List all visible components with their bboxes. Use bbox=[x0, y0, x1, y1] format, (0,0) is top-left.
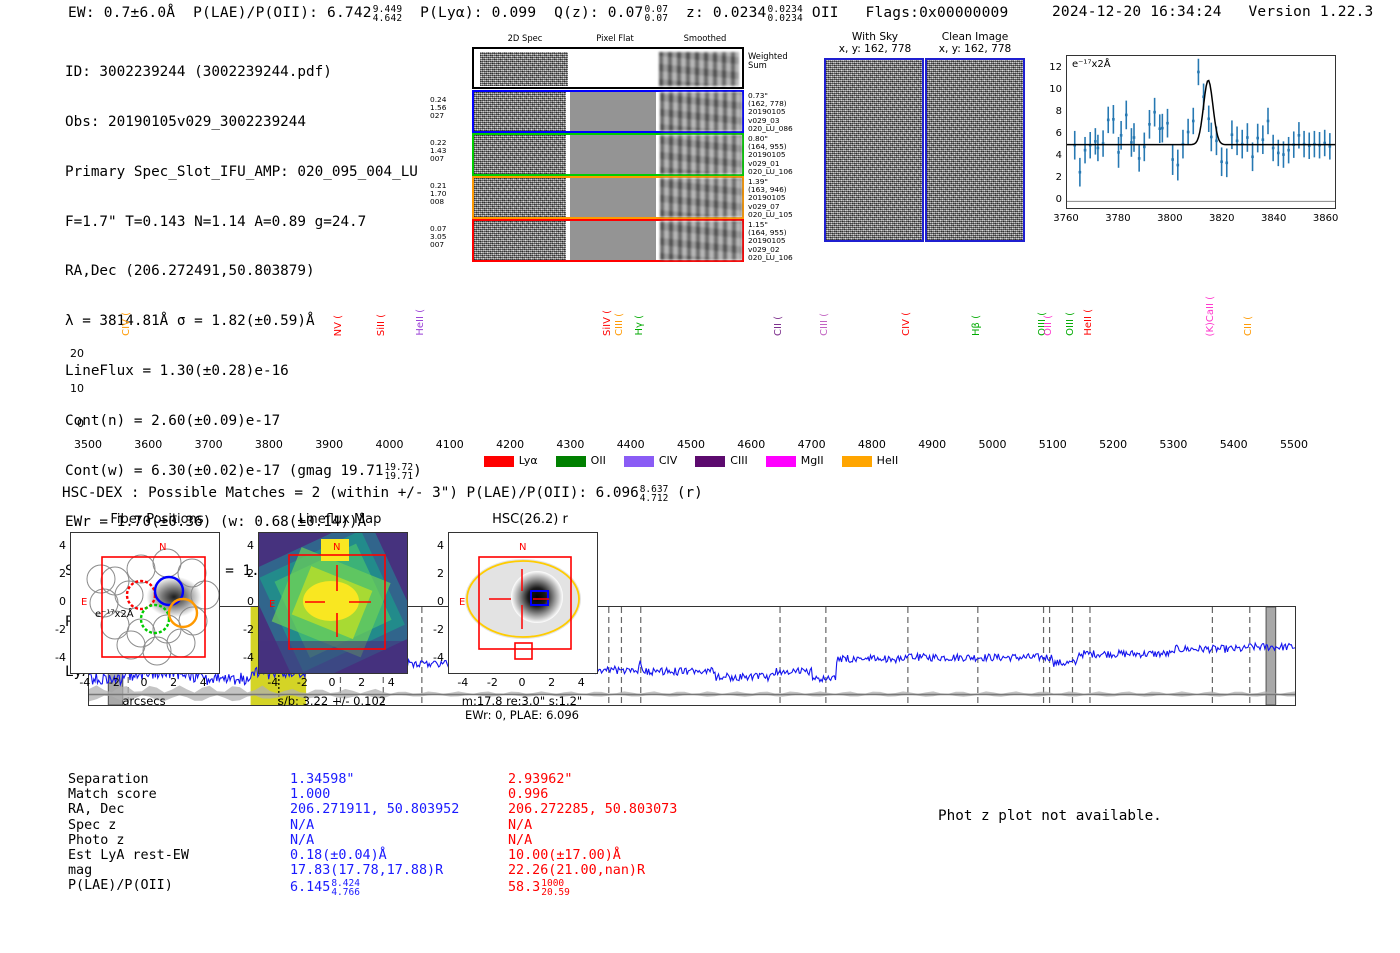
emission-line-label-civ: CIV ( bbox=[901, 312, 912, 336]
tick-label: 4200 bbox=[486, 438, 534, 451]
version: Version 1.22.3 bbox=[1248, 4, 1373, 20]
tick-label: 0 bbox=[232, 595, 254, 608]
tick-label: 4300 bbox=[546, 438, 594, 451]
plae-range: 9.4494.642 bbox=[373, 5, 403, 23]
emission-line-label-cii: CII ( bbox=[1243, 316, 1254, 336]
fiber-row bbox=[472, 90, 744, 133]
fiber-row bbox=[472, 133, 744, 176]
column-title-2dspec: 2D Spec bbox=[492, 33, 558, 43]
emission-line-markers: CIV (NV (SiII (HeII (SiIV (CIII (Hγ (CII… bbox=[88, 270, 1294, 336]
table-cell-match1: 206.271911, 50.803952 bbox=[290, 802, 459, 817]
legend-swatch bbox=[842, 456, 872, 467]
line-profile-svg bbox=[1067, 56, 1335, 208]
tick-label: -2 bbox=[98, 676, 130, 689]
summary-header: EW: 0.7±6.0Å P(LAE)/P(OII): 6.7429.4494.… bbox=[68, 4, 1008, 22]
tick-label: 0 bbox=[44, 595, 66, 608]
fiber-row-left-label: 0.21 1.70 008 bbox=[430, 182, 446, 207]
table-row-label: Est LyA rest-EW bbox=[68, 848, 189, 863]
fiber-row bbox=[472, 219, 744, 262]
table-cell-match2: 58.3100020.59 bbox=[508, 878, 570, 896]
hsc-r-sublabel2: EWr: 0, PLAE: 6.096 bbox=[436, 708, 608, 722]
hsc-r-sublabel: m:17.8 re:3.0" s:1.2" bbox=[436, 694, 608, 708]
line-profile-plot: e⁻¹⁷x2Å bbox=[1038, 55, 1336, 233]
table-cell-match2: 2.93962" bbox=[508, 772, 573, 787]
fiber-rows: 0.24 1.56 027 0.73" (162, 778) 20190105 … bbox=[428, 90, 812, 262]
tick-label: 3500 bbox=[64, 438, 112, 451]
ew-label: EW: bbox=[68, 5, 95, 21]
tick-label: 3800 bbox=[1152, 213, 1188, 224]
tick-label: -4 bbox=[69, 676, 101, 689]
hsc-r-svg: N E bbox=[449, 533, 597, 673]
tick-label: 3600 bbox=[124, 438, 172, 451]
svg-text:E: E bbox=[81, 597, 87, 608]
table-row-label: Match score bbox=[68, 787, 157, 802]
line-profile-axes: e⁻¹⁷x2Å bbox=[1066, 55, 1336, 209]
tick-label: 0 bbox=[422, 595, 444, 608]
plya-label: P(Lyα): bbox=[420, 5, 483, 21]
emission-line-label-ciii: CIII ( bbox=[614, 313, 625, 336]
cutout-subtitle: x, y: 162, 778 bbox=[939, 43, 1012, 55]
tick-label: -2 bbox=[476, 676, 508, 689]
table-cell-match1: 6.1458.4244.766 bbox=[290, 878, 360, 896]
weighted-sum-label: Weighted Sum bbox=[748, 52, 788, 70]
weighted-sum-strip bbox=[472, 47, 744, 89]
tick-label: 4 bbox=[44, 539, 66, 552]
table-cell-match1: 1.34598" bbox=[290, 772, 355, 787]
tick-label: 4600 bbox=[727, 438, 775, 451]
tick-label: 4 bbox=[422, 539, 444, 552]
info-obs: Obs: 20190105v029_3002239244 bbox=[65, 114, 422, 131]
cutout-title-clean-image: Clean Image x, y: 162, 778 bbox=[920, 31, 1030, 55]
tick-label: 3700 bbox=[185, 438, 233, 451]
table-cell-match1: 1.000 bbox=[290, 787, 330, 802]
tick-label: 2 bbox=[1042, 172, 1062, 183]
emission-line-label-kcaii: (K)CaII ( bbox=[1205, 296, 1216, 336]
legend-swatch bbox=[624, 456, 654, 467]
tick-label: 0 bbox=[1042, 194, 1062, 205]
tick-label: 4 bbox=[1042, 150, 1062, 161]
tick-label: 3760 bbox=[1048, 213, 1084, 224]
tick-label: 3860 bbox=[1308, 213, 1344, 224]
table-cell-match2: N/A bbox=[508, 818, 532, 833]
tick-label: -4 bbox=[232, 651, 254, 664]
tick-label: 4700 bbox=[788, 438, 836, 451]
tick-label: -2 bbox=[232, 623, 254, 636]
svg-text:E: E bbox=[269, 599, 275, 610]
fiber-row bbox=[472, 176, 744, 219]
tick-label: 4 bbox=[375, 676, 407, 689]
emission-line-label-hβ: Hβ ( bbox=[971, 315, 982, 336]
table-cell-match1: 17.83(17.78,17.88)R bbox=[290, 863, 443, 878]
z-species: OII bbox=[812, 5, 839, 21]
tick-label: -4 bbox=[44, 651, 66, 664]
fiber-row-left-label: 0.24 1.56 027 bbox=[430, 96, 446, 121]
legend-label: MgII bbox=[801, 454, 824, 467]
svg-text:N: N bbox=[159, 542, 166, 553]
z-value: 0.0234 bbox=[713, 5, 767, 21]
tick-label: 2 bbox=[158, 676, 190, 689]
hsc-r-plot: N E bbox=[448, 532, 598, 674]
cutout-with-sky bbox=[824, 58, 924, 242]
spectrum-legend: LyαOIICIVCIIIMgIIHeII bbox=[0, 450, 1400, 469]
tick-label: 2 bbox=[232, 567, 254, 580]
hscdex-text: HSC-DEX : Possible Matches = 2 (within +… bbox=[62, 485, 639, 501]
emission-line-label-nv: NV ( bbox=[333, 315, 344, 336]
panel-title-fiber-positions: Fiber Positions bbox=[62, 512, 252, 527]
table-cell-match2: 22.26(21.00,nan)R bbox=[508, 863, 645, 878]
tick-label: 0 bbox=[58, 417, 84, 430]
tick-label: 2 bbox=[346, 676, 378, 689]
emission-line-label-civ: CIV ( bbox=[121, 312, 132, 336]
table-cell-match2: N/A bbox=[508, 833, 532, 848]
tick-label: 10 bbox=[58, 382, 84, 395]
lineflux-map-sublabel: s/b: 3.22 +/- 0.102 bbox=[248, 694, 416, 708]
legend-item-ly: Lyα bbox=[484, 454, 538, 467]
tick-label: 5100 bbox=[1029, 438, 1077, 451]
info-id: ID: 3002239244 (3002239244.pdf) bbox=[65, 64, 422, 81]
plae-label: P(LAE)/P(OII): bbox=[193, 5, 318, 21]
cutout-subtitle: x, y: 162, 778 bbox=[839, 43, 912, 55]
fiber-row-right-label: 0.73" (162, 778) 20190105 v029_03 020_LU… bbox=[748, 92, 793, 133]
tick-label: 4500 bbox=[667, 438, 715, 451]
fiber-positions-xlabel: arcsecs bbox=[70, 694, 218, 708]
tick-label: 4 bbox=[187, 676, 219, 689]
svg-text:N: N bbox=[333, 542, 340, 553]
legend-swatch bbox=[695, 456, 725, 467]
z-range: 0.02340.0234 bbox=[767, 5, 803, 23]
table-cell-match2: 0.996 bbox=[508, 787, 548, 802]
tick-label: 12 bbox=[1042, 62, 1062, 73]
table-row-label: Spec z bbox=[68, 818, 116, 833]
legend-label: OII bbox=[591, 454, 606, 467]
timestamp-version: 2024-12-20 16:34:24 Version 1.22.3 bbox=[1052, 4, 1374, 20]
spectrum-flux-unit: e⁻¹⁷x2Å bbox=[95, 609, 134, 620]
tick-label: -4 bbox=[447, 676, 479, 689]
emission-line-label-siii: SiII ( bbox=[376, 314, 387, 336]
fiber-row-right-label: 1.15" (164, 955) 20190105 v029_02 020_LU… bbox=[748, 221, 793, 262]
tick-label: 0 bbox=[128, 676, 160, 689]
fiber-positions-plot: N E bbox=[70, 532, 220, 674]
tick-label: 4800 bbox=[848, 438, 896, 451]
tick-label: 5300 bbox=[1149, 438, 1197, 451]
qz-label: Q(z): bbox=[554, 5, 599, 21]
emission-line-label-oiii: OIII ( bbox=[1065, 312, 1076, 336]
tick-label: 5000 bbox=[969, 438, 1017, 451]
emission-line-label-cii: CII ( bbox=[773, 316, 784, 336]
table-cell-match1: N/A bbox=[290, 833, 314, 848]
legend-item-heii: HeII bbox=[842, 454, 899, 467]
flux-unit-annotation: e⁻¹⁷x2Å bbox=[1072, 59, 1111, 70]
table-row-label: Photo z bbox=[68, 833, 124, 848]
legend-label: HeII bbox=[877, 454, 899, 467]
lineflux-map-svg: N E bbox=[259, 533, 407, 673]
column-title-pixelflat: Pixel Flat bbox=[582, 33, 648, 43]
table-cell-match1: N/A bbox=[290, 818, 314, 833]
tick-label: 5400 bbox=[1210, 438, 1258, 451]
tick-label: 4000 bbox=[366, 438, 414, 451]
emission-line-label-heii: HeII ( bbox=[1083, 309, 1094, 336]
photz-note: Phot z plot not available. bbox=[938, 808, 1162, 824]
fiber-positions-svg: N E bbox=[71, 533, 219, 673]
table-cell-match2: 206.272285, 50.803073 bbox=[508, 802, 677, 817]
tick-label: -4 bbox=[257, 676, 289, 689]
svg-text:E: E bbox=[459, 597, 465, 608]
tick-label: 3820 bbox=[1204, 213, 1240, 224]
flags-value: Flags:0x00000009 bbox=[866, 5, 1009, 21]
panel-title-lineflux-map: Lineflux Map bbox=[250, 512, 430, 527]
legend-swatch bbox=[766, 456, 796, 467]
tick-label: 4 bbox=[565, 676, 597, 689]
info-seeing: F=1.7" T=0.143 N=1.14 A=0.89 g=24.7 bbox=[65, 214, 422, 231]
tick-label: 0 bbox=[506, 676, 538, 689]
tick-label: 2 bbox=[44, 567, 66, 580]
svg-text:N: N bbox=[519, 542, 526, 553]
tick-label: 4 bbox=[232, 539, 254, 552]
legend-item-civ: CIV bbox=[624, 454, 677, 467]
tick-label: -2 bbox=[422, 623, 444, 636]
tick-label: 3800 bbox=[245, 438, 293, 451]
emission-line-label-oii: OII ( bbox=[1043, 315, 1054, 336]
tick-label: 20 bbox=[58, 347, 84, 360]
fiber-row-left-label: 0.22 1.43 007 bbox=[430, 139, 446, 164]
tick-label: 4400 bbox=[607, 438, 655, 451]
tick-label: 5500 bbox=[1270, 438, 1318, 451]
tick-label: 4900 bbox=[908, 438, 956, 451]
qz-range: 0.070.07 bbox=[644, 5, 668, 23]
panel-title-hsc-r: HSC(26.2) r bbox=[440, 512, 620, 527]
legend-item-mgii: MgII bbox=[766, 454, 824, 467]
emission-line-label-heii: HeII ( bbox=[415, 309, 426, 336]
plae-value: 6.742 bbox=[327, 5, 372, 21]
cutout-title: With Sky bbox=[852, 31, 898, 43]
tick-label: -2 bbox=[286, 676, 318, 689]
emission-line-label-ciii: CIII ( bbox=[819, 313, 830, 336]
2d-spec-panel: 2D Spec Pixel Flat Smoothed Weighted Sum… bbox=[430, 33, 810, 265]
tick-label: 2 bbox=[536, 676, 568, 689]
hscdex-band: (r) bbox=[677, 485, 703, 501]
legend-label: CIII bbox=[730, 454, 747, 467]
legend-swatch bbox=[484, 456, 514, 467]
tick-label: 2 bbox=[422, 567, 444, 580]
tick-label: 0 bbox=[316, 676, 348, 689]
tick-label: 3900 bbox=[305, 438, 353, 451]
table-row-label: RA, Dec bbox=[68, 802, 124, 817]
fiber-row-right-label: 0.80" (164, 955) 20190105 v029_01 020_LU… bbox=[748, 135, 793, 176]
cutout-title-with-sky: With Sky x, y: 162, 778 bbox=[820, 31, 930, 55]
legend-item-ciii: CIII bbox=[695, 454, 747, 467]
z-label: z: bbox=[686, 5, 704, 21]
table-cell-match2: 10.00(±17.00)Å bbox=[508, 848, 621, 863]
fiber-row-right-label: 1.39" (163, 946) 20190105 v029_07 020_LU… bbox=[748, 178, 793, 219]
ew-value: 0.7±6.0Å bbox=[104, 5, 175, 21]
emission-line-label-siiv: SiIV ( bbox=[602, 310, 613, 336]
tick-label: 3780 bbox=[1100, 213, 1136, 224]
legend-label: CIV bbox=[659, 454, 677, 467]
qz-value: 0.07 bbox=[608, 5, 644, 21]
column-title-smoothed: Smoothed bbox=[670, 33, 740, 43]
tick-label: 8 bbox=[1042, 106, 1062, 117]
table-cell-match1: 0.18(±0.04)Å bbox=[290, 848, 387, 863]
tick-label: -2 bbox=[44, 623, 66, 636]
legend-label: Lyα bbox=[519, 454, 538, 467]
table-row-label: Separation bbox=[68, 772, 149, 787]
plya-value: 0.099 bbox=[492, 5, 537, 21]
table-row-label: mag bbox=[68, 863, 92, 878]
lineflux-map-plot: N E bbox=[258, 532, 408, 674]
tick-label: 6 bbox=[1042, 128, 1062, 139]
fiber-row-left-label: 0.07 3.05 007 bbox=[430, 225, 446, 250]
legend-item-oii: OII bbox=[556, 454, 606, 467]
tick-label: 4100 bbox=[426, 438, 474, 451]
legend-swatch bbox=[556, 456, 586, 467]
tick-label: 3840 bbox=[1256, 213, 1292, 224]
cutout-title: Clean Image bbox=[942, 31, 1009, 43]
timestamp: 2024-12-20 16:34:24 bbox=[1052, 4, 1222, 20]
table-row-label: P(LAE)/P(OII) bbox=[68, 878, 173, 893]
tick-label: -4 bbox=[422, 651, 444, 664]
tick-label: 10 bbox=[1042, 84, 1062, 95]
hscdex-header: HSC-DEX : Possible Matches = 2 (within +… bbox=[62, 484, 703, 502]
info-slot: Primary Spec_Slot_IFU_AMP: 020_095_004_L… bbox=[65, 164, 422, 181]
cutout-clean-image bbox=[925, 58, 1025, 242]
emission-line-label-hγ: Hγ ( bbox=[634, 315, 645, 336]
tick-label: 5200 bbox=[1089, 438, 1137, 451]
